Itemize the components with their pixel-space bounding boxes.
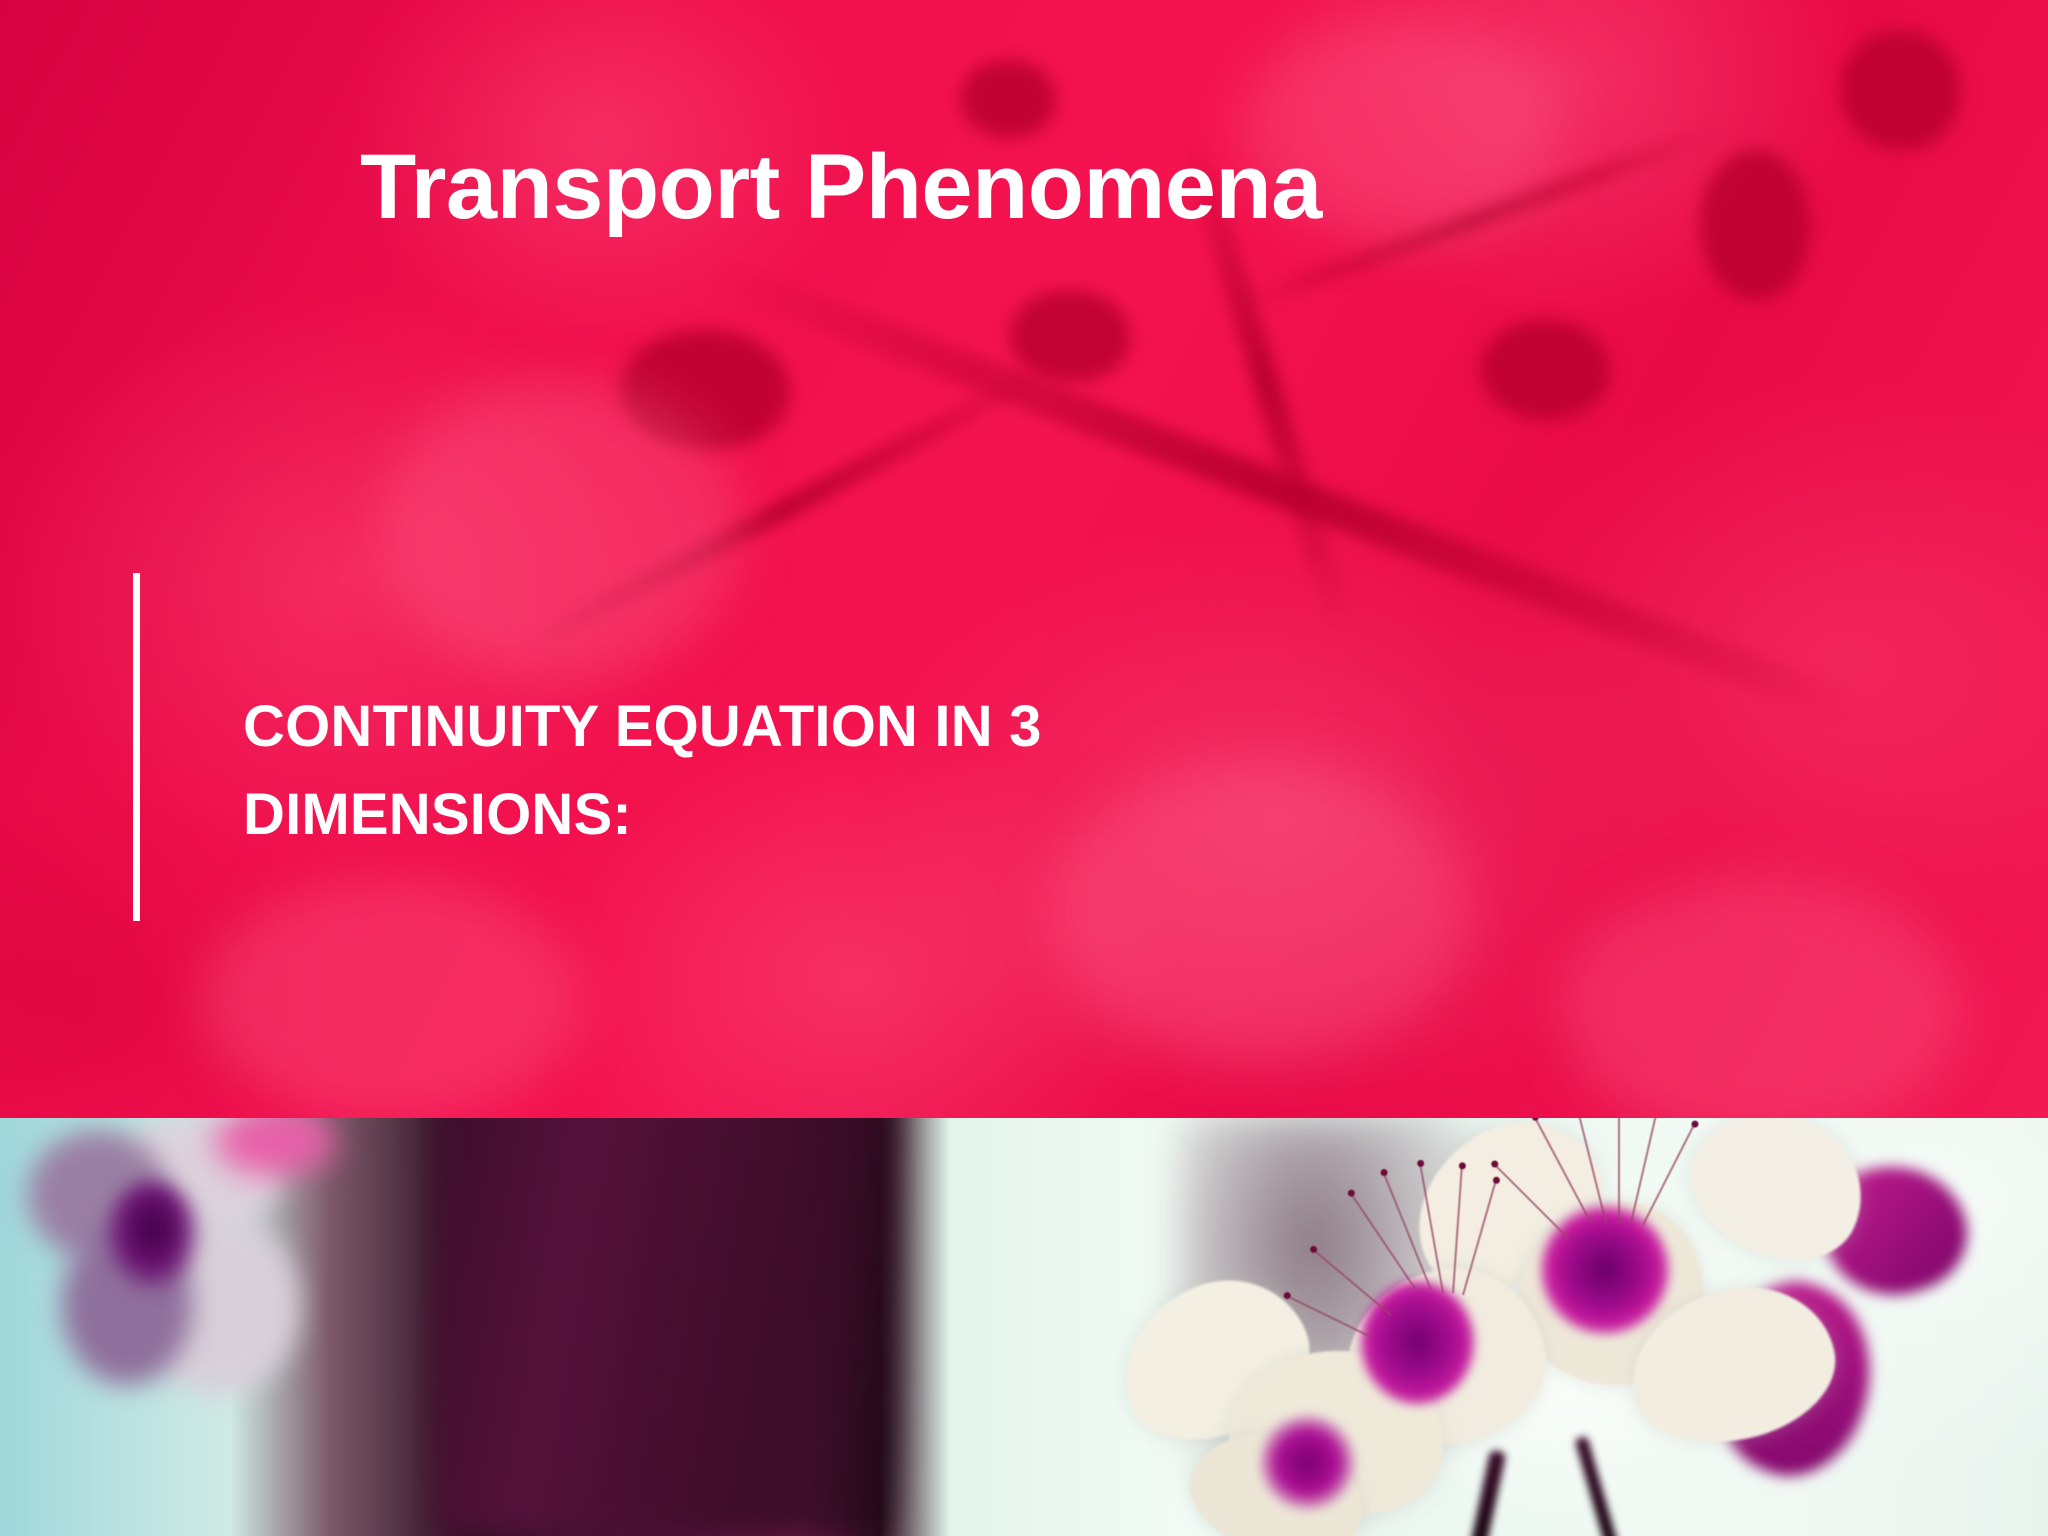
- presentation-slide: Transport Phenomena CONTINUITY EQUATION …: [0, 0, 2048, 1536]
- bud-shape: [1480, 320, 1610, 420]
- bud-shape: [1010, 290, 1130, 382]
- cherry-blossom-cluster: [1090, 1105, 1950, 1536]
- petal-highlight: [380, 380, 740, 680]
- slide-subtitle: CONTINUITY EQUATION IN 3 DIMENSIONS:: [243, 683, 1443, 859]
- petal-highlight: [200, 880, 580, 1118]
- bud-shape: [960, 60, 1056, 138]
- bud-shape: [1840, 30, 1960, 150]
- slide-title: Transport Phenomena: [360, 138, 1920, 237]
- blurred-blossom-left: [10, 1120, 330, 1450]
- vertical-accent-bar: [133, 573, 140, 921]
